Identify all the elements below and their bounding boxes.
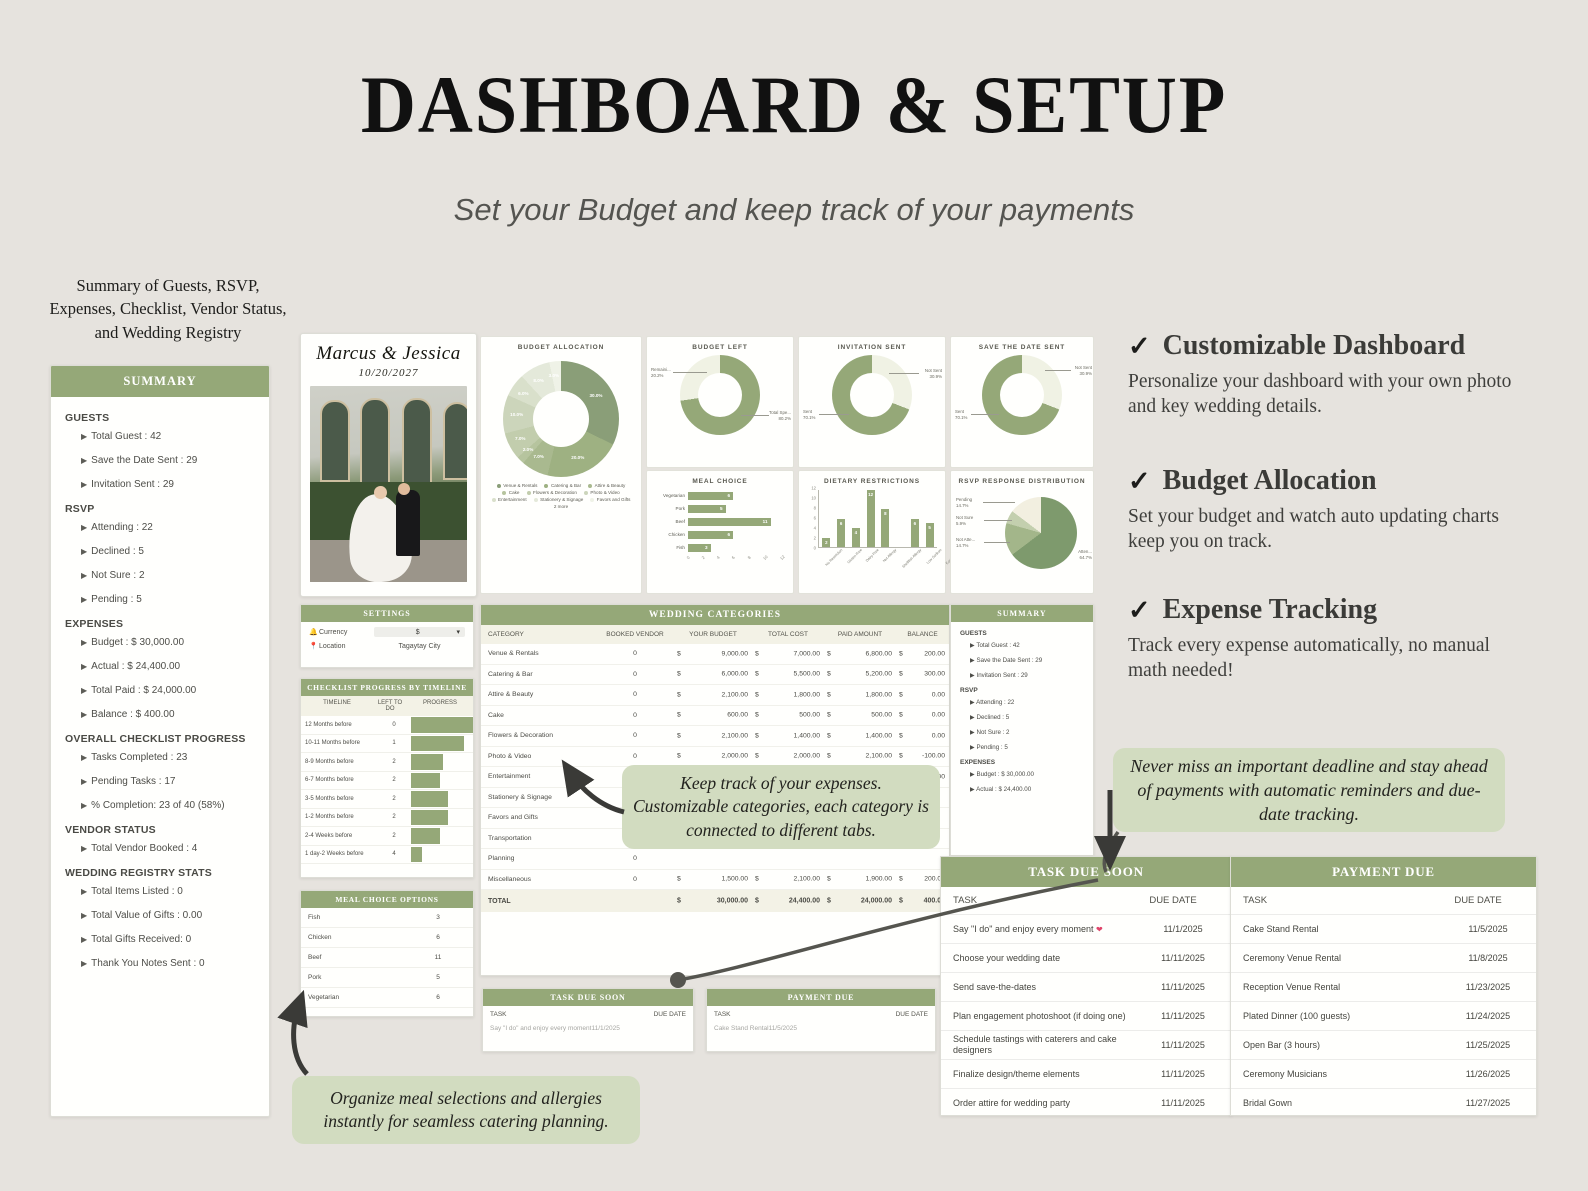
payment-due-rows: Cake Stand Rental11/5/2025Ceremony Venue… <box>1231 914 1536 1116</box>
legend-item: Stationery & Signage <box>534 497 584 502</box>
cl-progress <box>411 772 473 790</box>
row-task: Open Bar (3 hours) <box>1231 1040 1440 1051</box>
page-subtitle: Set your Budget and keep track of your p… <box>0 192 1588 228</box>
small-payment-header: TASK DUE DATE <box>707 1006 935 1023</box>
axis-tick: 8 <box>746 555 751 560</box>
summary-item: ▶Balance : $ 400.00 <box>81 709 255 720</box>
table-row: 1 day-2 Weeks before4 <box>301 846 473 865</box>
arrow-icon: ▶ <box>970 714 975 721</box>
bar: 8 <box>881 509 889 547</box>
table-row: 2-4 Weeks before2 <box>301 827 473 846</box>
bar-label: Vegetarian <box>655 493 688 498</box>
feature-customizable-dashboard: ✓ Customizable Dashboard Personalize you… <box>1128 330 1528 420</box>
cl-timeline: 2-4 Weeks before <box>301 833 377 839</box>
meal-name: Chicken <box>301 934 403 941</box>
chart-meal-choice: MEAL CHOICE Vegetarian6Pork5Beef11Chicke… <box>646 470 794 594</box>
summary-group-label: RSVP <box>65 503 255 515</box>
summary-item: ▶ Not Sure : 2 <box>970 729 1084 736</box>
settings-card: SETTINGS 🔔 Currency $ ▾ 📍 Location Tagay… <box>300 604 474 668</box>
meal-choice-axis: 024681012 <box>647 554 793 560</box>
arrow-icon: ▶ <box>81 935 87 944</box>
axis-tick: 10 <box>811 495 816 500</box>
dietary-y-axis: 024681012 <box>805 488 817 548</box>
wc-vendor: 0 <box>596 855 674 862</box>
chart-title: BUDGET ALLOCATION <box>481 344 641 351</box>
axis-tick: Low Sodium <box>925 548 947 570</box>
axis-tick: 6 <box>731 555 736 560</box>
cl-progress <box>411 716 473 734</box>
row-date: 11/11/2025 <box>1135 1011 1231 1021</box>
callout-expense: Keep track of your expenses. Customizabl… <box>622 765 940 849</box>
poster-root: DASHBOARD & SETUP Set your Budget and ke… <box>0 0 1588 1191</box>
checklist-col-left: LEFT TO DO <box>373 700 407 712</box>
task-due-soon-card: TASK DUE SOON TASK DUE DATE Say "I do" a… <box>940 856 1232 1116</box>
budget-left-donut <box>680 355 760 435</box>
wedding-date: 10/20/2027 <box>301 367 476 379</box>
axis-tick: Shellfish Allergy <box>902 548 928 574</box>
arrow-icon: ▶ <box>81 523 87 532</box>
page-title: DASHBOARD & SETUP <box>56 58 1533 152</box>
bar-label: Pork <box>655 506 688 511</box>
table-row: Beef11 <box>301 948 473 968</box>
meal-count: 6 <box>403 994 473 1001</box>
slice-percent-label: 7.0% <box>533 454 543 459</box>
axis-tick: 4 <box>716 555 721 560</box>
row-task: Send save-the-dates <box>941 982 1135 993</box>
summary-item: ▶Total Items Listed : 0 <box>81 886 255 897</box>
axis-tick: 2 <box>814 536 816 541</box>
row-date: 11/23/2025 <box>1440 982 1536 992</box>
wc-category: Photo & Video <box>481 753 596 760</box>
wc-vendor: 0 <box>596 712 674 719</box>
summary-group-label: EXPENSES <box>65 618 255 630</box>
arrow-icon: ▶ <box>81 480 87 489</box>
row-task: Cake Stand Rental <box>1231 924 1440 935</box>
summary-group-label: VENDOR STATUS <box>65 824 255 836</box>
table-row: Chicken6 <box>301 928 473 948</box>
arrow-icon: ▶ <box>970 657 975 664</box>
legend-item: Photo & Video <box>584 490 620 495</box>
cl-progress <box>411 753 473 771</box>
wc-vendor: 0 <box>596 691 674 698</box>
row-task: Ceremony Venue Rental <box>1231 953 1440 964</box>
table-row: Pork5 <box>301 968 473 988</box>
meal-name: Beef <box>301 954 403 961</box>
task-col-task: TASK <box>953 895 1125 906</box>
summary-secondary-body: GUESTS▶ Total Guest : 42▶ Save the Date … <box>951 622 1093 793</box>
invitation-sent-donut <box>832 355 912 435</box>
summary-item: ▶Budget : $ 30,000.00 <box>81 637 255 648</box>
wc-vendor: 0 <box>596 732 674 739</box>
chart-save-the-date-sent: SAVE THE DATE SENT Not Sent30.9% Sent70.… <box>950 336 1094 468</box>
chart-title: SAVE THE DATE SENT <box>951 344 1093 351</box>
meal-count: 3 <box>403 914 473 921</box>
feature-title: Budget Allocation <box>1163 465 1377 497</box>
payment-col-task: TASK <box>1243 895 1430 906</box>
slice-percent-label: 6.0% <box>518 391 528 396</box>
row-date: 11/5/2025 <box>1440 924 1536 934</box>
summary-group-label: WEDDING REGISTRY STATS <box>65 867 255 879</box>
donut-wrap: Remaini...20.2% Total Spe...80.2% <box>647 353 793 439</box>
summary-item: ▶ Actual : $ 24,400.00 <box>970 786 1084 793</box>
small-payment-band: PAYMENT DUE <box>707 989 935 1006</box>
callout-deadline: Never miss an important deadline and sta… <box>1113 748 1505 832</box>
wc-category: Venue & Rentals <box>481 650 596 657</box>
table-row: Cake Stand Rental11/5/2025 <box>1231 914 1536 943</box>
axis-tick: 12 <box>779 554 786 561</box>
arrow-icon: ▶ <box>81 911 87 920</box>
checklist-col-timeline: TIMELINE <box>301 700 373 712</box>
chart-invitation-sent: INVITATION SENT Not Sent30.9% Sent70.1% <box>798 336 946 468</box>
settings-band: SETTINGS <box>301 605 473 622</box>
small-task-col-date: DUE DATE <box>654 1011 686 1018</box>
cl-progress <box>411 827 473 845</box>
bar: 6 <box>688 492 733 500</box>
bar: 5 <box>926 523 934 547</box>
summary-item: ▶Actual : $ 24,400.00 <box>81 661 255 672</box>
heart-icon: ❤ <box>1096 925 1103 934</box>
cl-progress <box>411 809 473 827</box>
arrow-icon: ▶ <box>81 753 87 762</box>
wc-col-cost: TOTAL COST <box>752 631 824 638</box>
check-icon: ✓ <box>1128 466 1151 497</box>
summary-item: ▶Total Value of Gifts : 0.00 <box>81 910 255 921</box>
meal-count: 6 <box>403 934 473 941</box>
axis-tick: 4 <box>814 525 816 530</box>
slice-percent-label: 30.0% <box>589 393 602 398</box>
wc-category: Attire & Beauty <box>481 691 596 698</box>
row-date: 11/26/2025 <box>1440 1069 1536 1079</box>
meal-options-rows: Fish3Chicken6Beef11Pork5Vegetarian6 <box>301 908 473 1008</box>
chart-rsvp-response-distribution: RSVP RESPONSE DISTRIBUTION Pending14.7% … <box>950 470 1094 594</box>
wc-col-budget: YOUR BUDGET <box>674 631 752 638</box>
summary-group-label: RSVP <box>960 687 1084 694</box>
row-date: 11/11/2025 <box>1135 953 1231 963</box>
bar-row: Fish3 <box>655 541 785 554</box>
small-payment-row: Cake Stand Rental 11/5/2025 <box>707 1023 935 1034</box>
cl-progress <box>411 790 473 808</box>
summary-item: ▶% Completion: 23 of 40 (58%) <box>81 800 255 811</box>
wedding-categories-band: WEDDING CATEGORIES <box>481 605 949 625</box>
axis-tick: No Restriction <box>825 548 849 572</box>
feature-body: Personalize your dashboard with your own… <box>1128 370 1528 420</box>
table-row: Catering & Bar0$6,000.00$5,500.00$5,200.… <box>481 665 949 686</box>
arrow-icon: ▶ <box>81 662 87 671</box>
row-date: 11/8/2025 <box>1440 953 1536 963</box>
small-task-header: TASK DUE DATE <box>483 1006 693 1023</box>
summary-item: ▶ Pending : 5 <box>970 744 1084 751</box>
donut-label-not-sent: Not Sent30.9% <box>1075 365 1092 376</box>
wc-category: Cake <box>481 712 596 719</box>
wc-vendor: 0 <box>596 650 674 657</box>
legend-item: Cake <box>502 490 519 495</box>
feature-expense-tracking: ✓ Expense Tracking Track every expense a… <box>1128 594 1528 684</box>
table-row: Send save-the-dates11/11/2025 <box>941 972 1231 1001</box>
arrow-icon: ▶ <box>81 686 87 695</box>
legend-item: Attire & Beauty <box>588 483 625 488</box>
arrow-icon: ▶ <box>970 699 975 706</box>
arrow-icon: ▶ <box>81 595 87 604</box>
legend-item: Venue & Rentals <box>497 483 538 488</box>
summary-item: ▶ Attending : 22 <box>970 699 1084 706</box>
payment-col-date: DUE DATE <box>1430 895 1526 906</box>
slice-percent-label: 7.0% <box>515 436 525 441</box>
summary-item: ▶Pending Tasks : 17 <box>81 776 255 787</box>
dietary-x-labels: No RestrictionGluten-FreeDairy-FreeNut A… <box>818 548 937 560</box>
small-task-row: Say "I do" and enjoy every moment 11/1/2… <box>483 1023 693 1034</box>
task-due-soon-header: TASK DUE DATE <box>941 887 1231 914</box>
row-task: Finalize design/theme elements <box>941 1069 1135 1080</box>
arrow-icon: ▶ <box>81 959 87 968</box>
arrow-icon: ▶ <box>81 571 87 580</box>
wc-category: Catering & Bar <box>481 671 596 678</box>
meal-name: Vegetarian <box>301 994 403 1001</box>
wc-category: Stationery & Signage <box>481 794 596 801</box>
bar-label: Fish <box>655 545 688 550</box>
axis-tick: 8 <box>814 505 816 510</box>
task-due-soon-band: TASK DUE SOON <box>941 857 1231 887</box>
row-date: 11/11/2025 <box>1135 1040 1231 1050</box>
table-row: 3-5 Months before2 <box>301 790 473 809</box>
donut-label-sent: Sent70.1% <box>955 409 967 420</box>
table-row: Choose your wedding date11/11/2025 <box>941 943 1231 972</box>
bar: 2 <box>822 538 830 547</box>
table-row: 1-2 Months before2 <box>301 809 473 828</box>
summary-item: ▶Save the Date Sent : 29 <box>81 455 255 466</box>
location-label: Location <box>319 643 374 650</box>
table-row: Ceremony Musicians11/26/2025 <box>1231 1059 1536 1088</box>
summary-group-label: OVERALL CHECKLIST PROGRESS <box>65 733 255 745</box>
currency-label: Currency <box>319 629 374 636</box>
row-date: 11/11/2025 <box>1135 1098 1231 1108</box>
table-row: Open Bar (3 hours)11/25/2025 <box>1231 1030 1536 1059</box>
axis-tick: 0 <box>686 555 691 560</box>
table-row: Fish3 <box>301 908 473 928</box>
legend-item: Catering & Bar <box>544 483 581 488</box>
table-row: Plan engagement photoshoot (if doing one… <box>941 1001 1231 1030</box>
feature-body: Track every expense automatically, no ma… <box>1128 634 1528 684</box>
bar-row: Beef11 <box>655 515 785 528</box>
arrow-icon: ▶ <box>970 729 975 736</box>
arrow-icon: ▶ <box>81 844 87 853</box>
wc-category: Flowers & Decoration <box>481 732 596 739</box>
summary-group-label: EXPENSES <box>960 759 1084 766</box>
cl-timeline: 12 Months before <box>301 722 377 728</box>
row-task: Schedule tastings with caterers and cake… <box>941 1034 1135 1056</box>
cl-progress <box>411 846 473 864</box>
table-row: Cake0$600.00$500.00$500.00$0.00 <box>481 706 949 727</box>
row-task: Plan engagement photoshoot (if doing one… <box>941 1011 1135 1022</box>
small-task-due-card: TASK DUE SOON TASK DUE DATE Say "I do" a… <box>482 988 694 1052</box>
summary-item: ▶Not Sure : 2 <box>81 570 255 581</box>
bar: 4 <box>852 528 860 547</box>
arrow-icon: ▶ <box>81 547 87 556</box>
row-task: Say "I do" and enjoy every moment ❤ <box>941 924 1135 935</box>
summary-item: ▶ Total Guest : 42 <box>970 642 1084 649</box>
cl-left: 2 <box>377 777 411 783</box>
table-row: Reception Venue Rental11/23/2025 <box>1231 972 1536 1001</box>
table-row: Order attire for wedding party11/11/2025 <box>941 1088 1231 1116</box>
summary-item: ▶Total Paid : $ 24,000.00 <box>81 685 255 696</box>
table-row: Miscellaneous0$1,500.00$2,100.00$1,900.0… <box>481 870 949 891</box>
arrow-icon: ▶ <box>970 672 975 679</box>
pie-label-pending: Pending14.7% <box>956 497 972 508</box>
arrow-icon: ▶ <box>970 771 975 778</box>
axis-tick: Nut Allergy <box>882 548 903 569</box>
arrow-icon: ▶ <box>81 432 87 441</box>
cl-left: 1 <box>377 740 411 746</box>
summary-item: ▶ Save the Date Sent : 29 <box>970 657 1084 664</box>
row-task: Order attire for wedding party <box>941 1098 1135 1109</box>
wc-vendor: 0 <box>596 753 674 760</box>
table-row: Venue & Rentals0$9,000.00$7,000.00$6,800… <box>481 644 949 665</box>
row-date: 11/25/2025 <box>1440 1040 1536 1050</box>
chart-title: INVITATION SENT <box>799 344 945 351</box>
callout-meal: Organize meal selections and allergies i… <box>292 1076 640 1144</box>
axis-tick: 10 <box>762 554 769 561</box>
row-date: 11/11/2025 <box>1135 982 1231 992</box>
table-row: Schedule tastings with caterers and cake… <box>941 1030 1231 1059</box>
donut-label-spent: Total Spe...80.2% <box>769 410 791 421</box>
summary-item: ▶Pending : 5 <box>81 594 255 605</box>
wc-category: Favors and Gifts <box>481 814 596 821</box>
settings-location-row: 📍 Location Tagaytay City <box>301 637 473 650</box>
summary-item: ▶Declined : 5 <box>81 546 255 557</box>
slice-percent-label: 20.0% <box>571 455 584 460</box>
row-date: 11/27/2025 <box>1440 1098 1536 1108</box>
row-task: Plated Dinner (100 guests) <box>1231 1011 1440 1022</box>
axis-tick: 6 <box>814 516 816 521</box>
checklist-band: CHECKLIST PROGRESS BY TIMELINE <box>301 679 473 696</box>
dietary-bars: 26412865 <box>818 490 937 548</box>
location-pin-icon: 📍 <box>309 642 319 650</box>
cl-timeline: 8-9 Months before <box>301 759 377 765</box>
cl-left: 2 <box>377 833 411 839</box>
legend-item: Entertainment <box>492 497 527 502</box>
slice-percent-label: 2.0% <box>523 447 533 452</box>
budget-allocation-donut: 30.0%20.0%7.0%2.0%7.0%10.0%6.0%8.0%3.0% <box>503 361 619 477</box>
summary-item: ▶Thank You Notes Sent : 0 <box>81 958 255 969</box>
small-payment-due-card: PAYMENT DUE TASK DUE DATE Cake Stand Ren… <box>706 988 936 1052</box>
summary-item: ▶Total Guest : 42 <box>81 431 255 442</box>
legend-item: Favors and Gifts <box>590 497 630 502</box>
axis-tick: 12 <box>811 486 816 491</box>
meal-name: Fish <box>301 914 403 921</box>
bar: 5 <box>688 505 726 513</box>
left-caption: Summary of Guests, RSVP, Expenses, Check… <box>48 274 288 344</box>
wedding-categories-total-row: TOTAL$30,000.00$24,400.00$24,000.00$400.… <box>481 890 949 912</box>
legend-more: 2 more <box>554 504 568 509</box>
currency-icon: 🔔 <box>309 628 319 636</box>
table-row: 12 Months before0 <box>301 716 473 735</box>
bar-row: Chicken6 <box>655 528 785 541</box>
checklist-progress-card: CHECKLIST PROGRESS BY TIMELINE TIMELINE … <box>300 678 474 878</box>
donut-label-remaining: Remaini...20.2% <box>651 367 671 378</box>
table-row: 10-11 Months before1 <box>301 735 473 754</box>
small-task-col-task: TASK <box>490 1011 654 1018</box>
summary-band-secondary: SUMMARY <box>951 605 1093 622</box>
task-col-date: DUE DATE <box>1125 895 1221 906</box>
table-row: Ceremony Venue Rental11/8/2025 <box>1231 943 1536 972</box>
bar: 3 <box>688 544 711 552</box>
cl-timeline: 1 day-2 Weeks before <box>301 851 377 857</box>
meal-choice-options-card: MEAL CHOICE OPTIONS Fish3Chicken6Beef11P… <box>300 890 474 1017</box>
table-row: 8-9 Months before2 <box>301 753 473 772</box>
row-task: Ceremony Musicians <box>1231 1069 1440 1080</box>
meal-name: Pork <box>301 974 403 981</box>
cl-left: 2 <box>377 814 411 820</box>
wc-total-label: TOTAL <box>481 898 596 905</box>
table-row: Flowers & Decoration0$2,100.00$1,400.00$… <box>481 726 949 747</box>
summary-group-label: GUESTS <box>960 630 1084 637</box>
table-row: Planning0 <box>481 849 949 870</box>
slice-percent-label: 10.0% <box>510 412 523 417</box>
arrow-icon: ▶ <box>970 786 975 793</box>
small-payment-col-task: TASK <box>714 1011 896 1018</box>
chevron-down-icon: ▾ <box>456 628 460 636</box>
summary-item: ▶Invitation Sent : 29 <box>81 479 255 490</box>
bar: 6 <box>688 531 733 539</box>
bar-row: Vegetarian6 <box>655 489 785 502</box>
table-row: 6-7 Months before2 <box>301 772 473 791</box>
donut-label-sent: Sent70.1% <box>803 409 815 420</box>
wc-col-category: CATEGORY <box>481 631 596 638</box>
feature-title: Expense Tracking <box>1163 594 1377 626</box>
meal-choice-bars: Vegetarian6Pork5Beef11Chicken6Fish3 <box>647 485 793 554</box>
arrow-icon: ▶ <box>81 456 87 465</box>
wc-vendor: 0 <box>596 876 674 883</box>
cl-timeline: 3-5 Months before <box>301 796 377 802</box>
bar-row: Pork5 <box>655 502 785 515</box>
arrow-icon: ▶ <box>81 710 87 719</box>
bar: 6 <box>837 519 845 548</box>
feature-body: Set your budget and watch auto updating … <box>1128 505 1528 555</box>
task-due-soon-rows: Say "I do" and enjoy every moment ❤11/1/… <box>941 914 1231 1116</box>
table-row: Say "I do" and enjoy every moment ❤11/1/… <box>941 914 1231 943</box>
dietary-chart-plot: 024681012 26412865 No RestrictionGluten-… <box>805 488 939 560</box>
pie-label-not-sure: Not Sure5.9% <box>956 515 973 526</box>
row-task: Reception Venue Rental <box>1231 982 1440 993</box>
table-row: Bridal Gown11/27/2025 <box>1231 1088 1536 1116</box>
location-value[interactable]: Tagaytay City <box>374 643 465 650</box>
legend-item: Flowers & Decoration <box>527 490 577 495</box>
small-payment-col-date: DUE DATE <box>896 1011 928 1018</box>
wc-category: Entertainment <box>481 773 596 780</box>
summary-item: ▶Total Gifts Received: 0 <box>81 934 255 945</box>
table-row: Plated Dinner (100 guests)11/24/2025 <box>1231 1001 1536 1030</box>
pie-label-attending: Atten...64.7% <box>1078 549 1092 560</box>
axis-tick: 2 <box>701 555 706 560</box>
checklist-rows: 12 Months before010-11 Months before18-9… <box>301 716 473 864</box>
payment-due-card: PAYMENT DUE TASK DUE DATE Cake Stand Ren… <box>1230 856 1537 1116</box>
wc-category: Miscellaneous <box>481 876 596 883</box>
arrow-icon: ▶ <box>970 744 975 751</box>
summary-group-label: GUESTS <box>65 412 255 424</box>
bar: 12 <box>867 490 875 547</box>
slice-percent-label: 3.0% <box>549 373 559 378</box>
table-row: Vegetarian6 <box>301 988 473 1008</box>
wc-col-balance: BALANCE <box>896 631 949 638</box>
table-row: Attire & Beauty0$2,100.00$1,800.00$1,800… <box>481 685 949 706</box>
bar-label: Beef <box>655 519 688 524</box>
meal-count: 5 <box>403 974 473 981</box>
summary-item: ▶Total Vendor Booked : 4 <box>81 843 255 854</box>
pie-label-not-attending: Not Atte...14.7% <box>956 537 975 548</box>
meal-options-band: MEAL CHOICE OPTIONS <box>301 891 473 908</box>
currency-dropdown[interactable]: $ ▾ <box>374 627 465 637</box>
donut-wrap: Not Sent30.9% Sent70.1% <box>799 353 945 439</box>
table-row: Finalize design/theme elements11/11/2025 <box>941 1059 1231 1088</box>
